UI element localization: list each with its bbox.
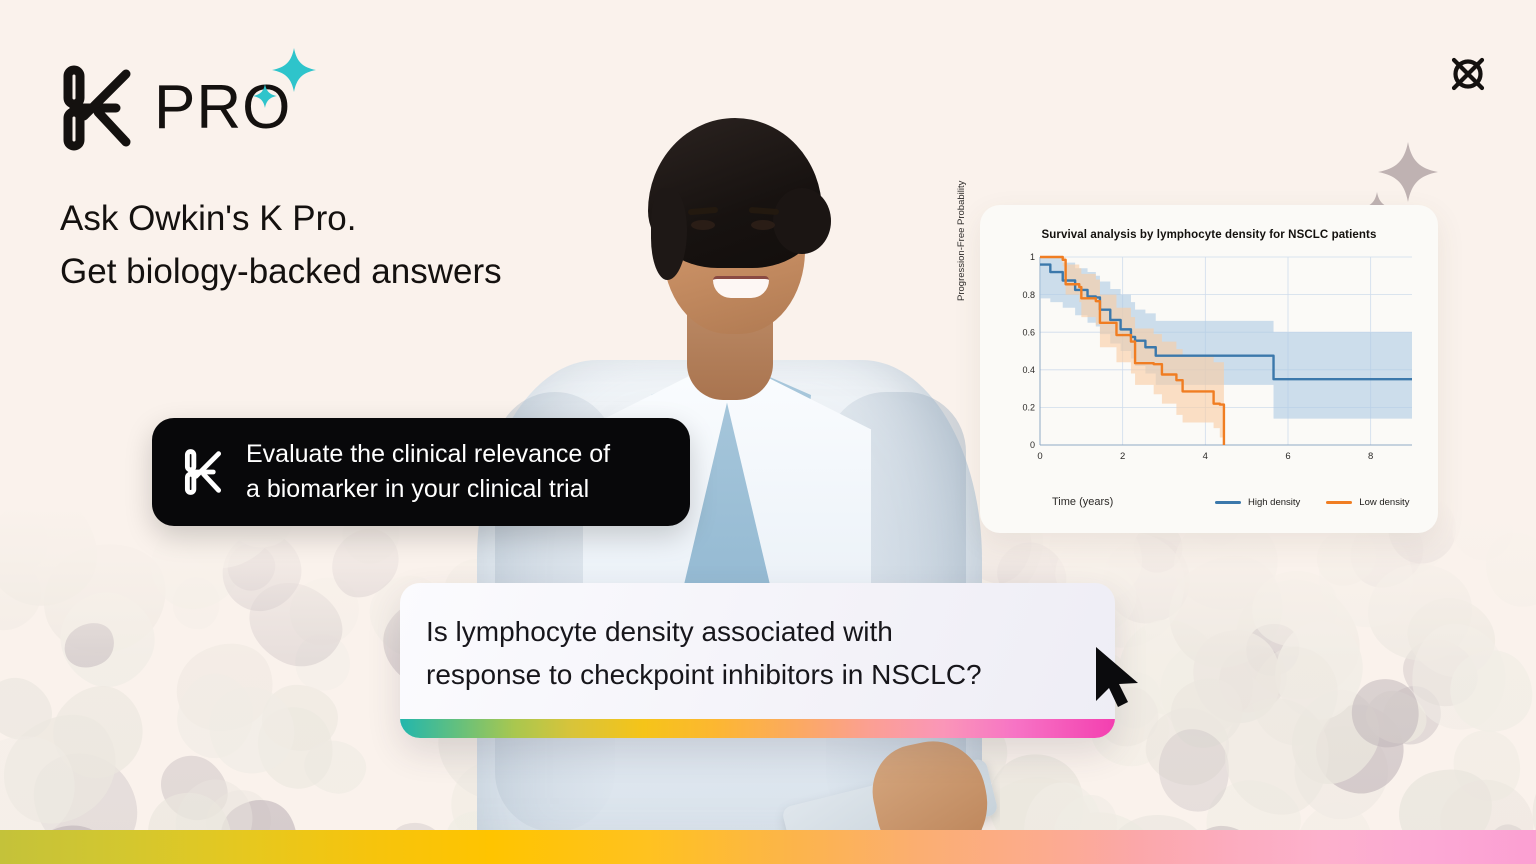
chart-y-axis-label: Progression-Free Probability [956, 181, 967, 301]
svg-text:0: 0 [1030, 440, 1035, 450]
headline-line-2: Get biology-backed answers [60, 245, 502, 298]
legend-item-high-density: High density [1215, 497, 1300, 508]
cell-blob [206, 785, 313, 830]
svg-text:0.6: 0.6 [1022, 327, 1035, 337]
cell-blob [0, 666, 63, 753]
cell-blob [1101, 809, 1211, 830]
promo-banner: PRO Ask Owkin's K Pro. Get biology-backe… [0, 0, 1536, 864]
cell-blob [1143, 704, 1233, 788]
cell-blob [1344, 672, 1426, 756]
cell-blob [236, 568, 355, 679]
cell-blob [1049, 809, 1158, 830]
cell-blob [1245, 562, 1345, 655]
cell-blob [1202, 775, 1304, 830]
cell-blob [1271, 617, 1366, 723]
headline-line-1: Ask Owkin's K Pro. [60, 192, 502, 245]
cell-blob [1275, 675, 1395, 800]
cell-blob [1024, 782, 1101, 830]
cell-blob [1434, 634, 1536, 749]
k-chromosome-logo-icon [182, 447, 224, 497]
sparkle-small-icon [253, 84, 277, 108]
svg-text:0.2: 0.2 [1022, 403, 1035, 413]
cell-blob [1482, 820, 1534, 830]
cell-blob [1043, 783, 1129, 830]
question-card[interactable]: Is lymphocyte density associated with re… [400, 583, 1115, 738]
cell-blob [31, 530, 179, 667]
cell-blob [1239, 617, 1306, 683]
cell-blob [1177, 616, 1296, 738]
cell-blob [170, 667, 260, 764]
cell-blob [1283, 789, 1385, 830]
chart-x-axis-label: Time (years) [1052, 496, 1113, 508]
cell-blob [1516, 746, 1536, 830]
cell-blob [148, 743, 240, 830]
question-text: Is lymphocyte density associated with re… [426, 611, 1075, 696]
cell-blob [1373, 675, 1452, 755]
cell-blob [0, 693, 138, 830]
svg-text:0: 0 [1037, 451, 1042, 462]
cell-blob [379, 815, 456, 830]
cell-blob [0, 717, 93, 830]
cell-blob [133, 778, 247, 830]
cell-blob [1396, 584, 1507, 689]
cell-blob [1220, 694, 1334, 820]
cell-blob [1158, 664, 1257, 762]
svg-text:8: 8 [1368, 451, 1373, 462]
cell-blob [246, 695, 346, 800]
chart-title: Survival analysis by lymphocyte density … [980, 229, 1438, 241]
cell-blob [171, 774, 258, 830]
cell-blob [36, 669, 162, 795]
cell-blob [194, 671, 309, 788]
cell-blob [44, 577, 169, 702]
question-line-1: Is lymphocyte density associated with [426, 611, 1075, 654]
cell-blob [223, 539, 279, 595]
cell-blob [194, 777, 284, 830]
chart-legend: High density Low density [1215, 497, 1409, 508]
cell-blob [1212, 556, 1382, 724]
legend-label-low-density: Low density [1359, 497, 1409, 508]
cell-blob [0, 543, 55, 644]
cell-blob [1445, 500, 1522, 569]
cell-blob [170, 575, 223, 632]
cell-blob [0, 500, 119, 630]
brand-logo: PRO [58, 62, 291, 154]
cell-blob [1244, 640, 1344, 751]
survival-chart-card: Survival analysis by lymphocyte density … [980, 205, 1438, 533]
cell-blob [1410, 622, 1507, 731]
cell-blob [0, 500, 61, 586]
k-chromosome-logo-icon [58, 62, 136, 154]
mouse-pointer-icon [1092, 645, 1144, 711]
cell-blob [4, 806, 138, 830]
headline: Ask Owkin's K Pro. Get biology-backed an… [60, 192, 502, 298]
cell-blob [1444, 721, 1530, 810]
cell-blob [318, 516, 412, 611]
legend-swatch-high-density [1215, 501, 1241, 505]
cell-blob [1428, 765, 1536, 830]
hair-bun [773, 188, 831, 254]
legend-swatch-low-density [1326, 501, 1352, 505]
prompt-suggestion-pill[interactable]: Evaluate the clinical relevance of a bio… [152, 418, 690, 526]
bottom-gradient-bar [0, 830, 1536, 864]
cell-blob [162, 628, 287, 747]
eye-left [691, 220, 715, 230]
svg-text:0.8: 0.8 [1022, 290, 1035, 300]
question-line-2: response to checkpoint inhibitors in NSC… [426, 654, 1075, 697]
cell-blob [1206, 632, 1301, 726]
svg-text:0.4: 0.4 [1022, 365, 1035, 375]
cell-blob [1278, 709, 1403, 830]
prompt-line-1: Evaluate the clinical relevance of [246, 437, 610, 473]
svg-text:4: 4 [1203, 451, 1208, 462]
gradient-accent-bar [400, 719, 1115, 738]
cell-blob [1360, 684, 1433, 750]
cell-blob [1141, 622, 1271, 754]
cell-blob [262, 685, 338, 751]
cell-blob [57, 614, 123, 676]
sparkle-icon [272, 48, 316, 92]
cell-blob [1388, 756, 1504, 830]
cell-blob [1155, 726, 1233, 815]
svg-text:1: 1 [1030, 252, 1035, 262]
kaplan-meier-plot: 00.20.40.60.8102468 [1006, 249, 1418, 479]
legend-item-low-density: Low density [1326, 497, 1409, 508]
cell-blob [299, 736, 370, 799]
cell-blob [1307, 695, 1414, 803]
cell-blob [1148, 534, 1306, 690]
svg-text:6: 6 [1285, 451, 1290, 462]
cell-blob [1393, 629, 1488, 718]
cell-blob [277, 565, 372, 658]
cell-blob [1471, 520, 1536, 620]
cell-blob [1366, 562, 1473, 662]
cell-blob [210, 518, 315, 625]
smile [713, 276, 769, 298]
owkin-crossed-circle-logo-icon [1446, 52, 1490, 96]
cell-blob [12, 731, 158, 830]
legend-label-high-density: High density [1248, 497, 1300, 508]
prompt-line-2: a biomarker in your clinical trial [246, 472, 610, 508]
svg-text:2: 2 [1120, 451, 1125, 462]
prompt-pill-text: Evaluate the clinical relevance of a bio… [246, 437, 610, 508]
cell-blob [286, 626, 357, 699]
eye-right [751, 220, 775, 230]
